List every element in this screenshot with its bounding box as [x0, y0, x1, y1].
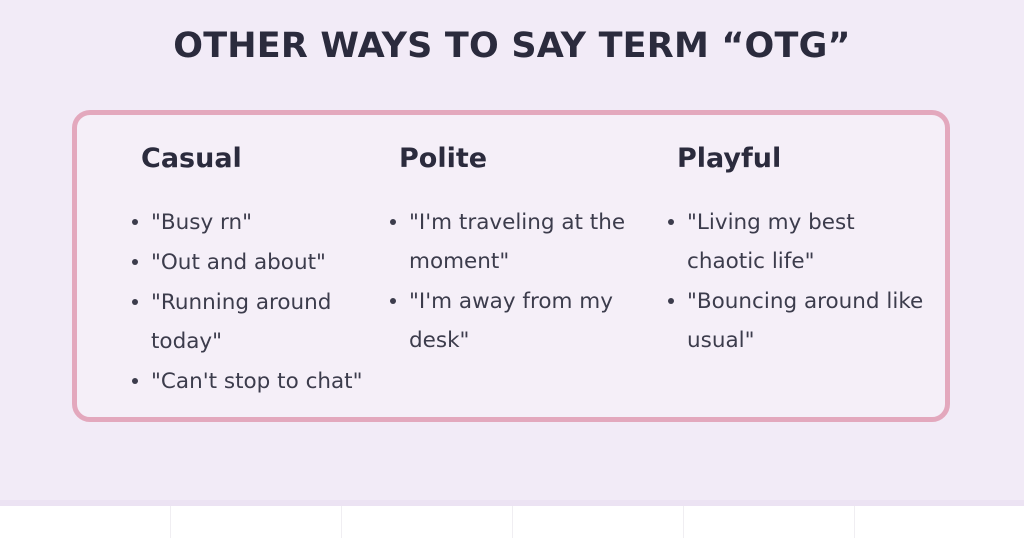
- bullet-dot-icon: [668, 219, 674, 225]
- bullet-dot-icon: [132, 259, 138, 265]
- synonyms-card: Casual "Busy rn" "Out and about" "Runnin…: [72, 110, 950, 422]
- bullet-dot-icon: [390, 219, 396, 225]
- list-item: "Running around today": [129, 283, 394, 361]
- list-item: "Bouncing around like usual": [665, 282, 925, 360]
- column-heading-casual: Casual: [141, 143, 242, 174]
- slide-canvas: OTHER WAYS TO SAY TERM “OTG” Casual "Bus…: [0, 0, 1024, 506]
- grid-line: [512, 506, 513, 538]
- bullet-list-casual: "Busy rn" "Out and about" "Running aroun…: [129, 203, 394, 402]
- bullet-dot-icon: [132, 219, 138, 225]
- list-item-text: "Living my best chaotic life": [687, 210, 855, 274]
- bullet-dot-icon: [132, 378, 138, 384]
- list-item-text: "I'm traveling at the moment": [409, 210, 625, 274]
- list-item: "I'm away from my desk": [387, 282, 657, 360]
- list-item-text: "Busy rn": [151, 210, 252, 235]
- list-item: "I'm traveling at the moment": [387, 203, 657, 281]
- list-item: "Busy rn": [129, 203, 394, 242]
- bullet-dot-icon: [390, 298, 396, 304]
- grid-line: [170, 506, 171, 538]
- grid-line: [341, 506, 342, 538]
- list-item-text: "Can't stop to chat": [151, 369, 363, 394]
- bullet-list-polite: "I'm traveling at the moment" "I'm away …: [387, 203, 657, 361]
- column-heading-playful: Playful: [677, 143, 781, 174]
- list-item: "Can't stop to chat": [129, 362, 394, 401]
- bullet-dot-icon: [132, 299, 138, 305]
- list-item-text: "Out and about": [151, 250, 326, 275]
- page-title: OTHER WAYS TO SAY TERM “OTG”: [0, 26, 1024, 66]
- list-item-text: "I'm away from my desk": [409, 289, 613, 353]
- column-heading-polite: Polite: [399, 143, 487, 174]
- grid-line: [854, 506, 855, 538]
- list-item: "Out and about": [129, 243, 394, 282]
- bullet-list-playful: "Living my best chaotic life" "Bouncing …: [665, 203, 925, 361]
- list-item-text: "Bouncing around like usual": [687, 289, 923, 353]
- list-item-text: "Running around today": [151, 290, 331, 354]
- spreadsheet-grid-area: [0, 506, 1024, 538]
- bullet-dot-icon: [668, 298, 674, 304]
- list-item: "Living my best chaotic life": [665, 203, 925, 281]
- grid-line: [683, 506, 684, 538]
